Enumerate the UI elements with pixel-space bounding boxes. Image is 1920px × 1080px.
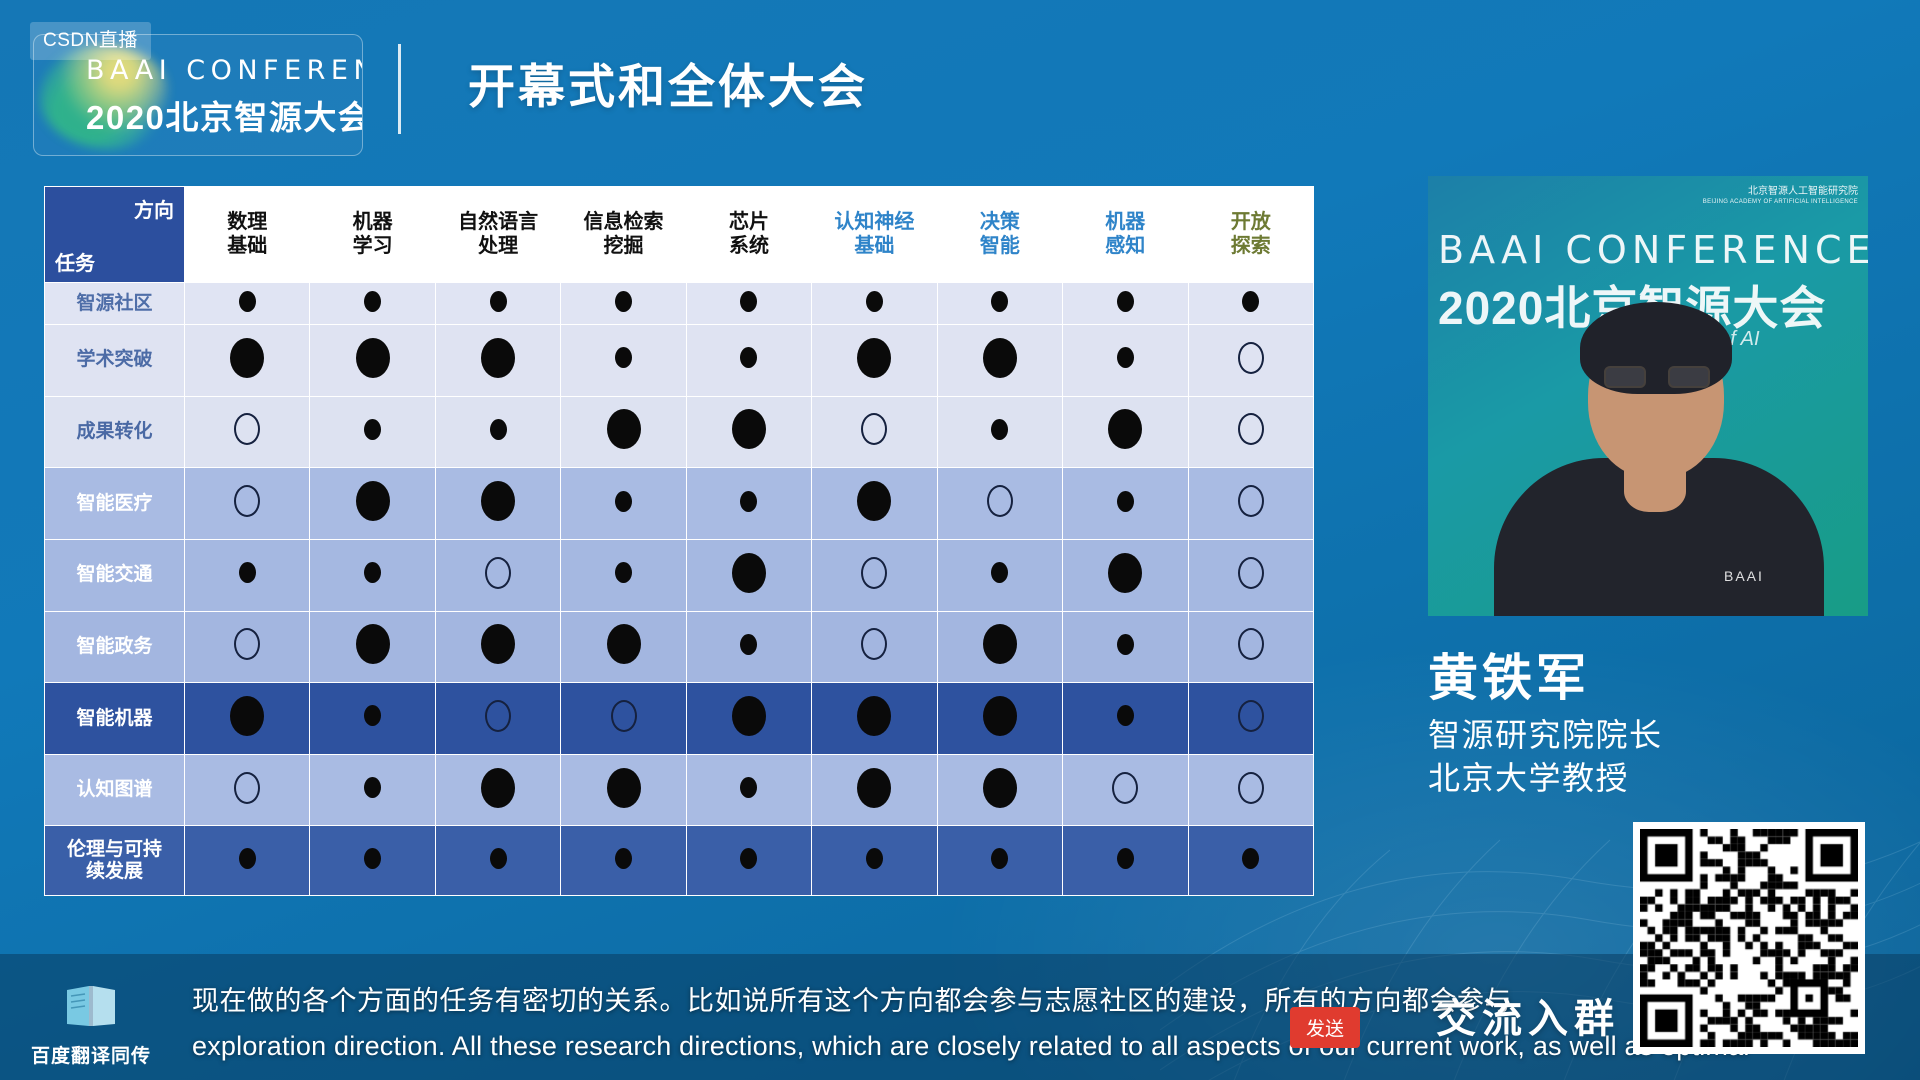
- row-header-line: 智能机器: [45, 708, 184, 730]
- matrix-cell-3-5: [812, 468, 937, 540]
- dot-small-icon: [364, 291, 381, 312]
- matrix-cell-0-5: [812, 283, 937, 325]
- dot-small-icon: [866, 291, 883, 312]
- dot-big-icon: [356, 624, 390, 664]
- matrix-body: 智源社区学术突破成果转化智能医疗智能交通智能政务智能机器认知图谱伦理与可持续发展: [45, 283, 1314, 896]
- dot-hollow-icon: [1112, 772, 1138, 804]
- speaker-title: 智源研究院院长 北京大学教授: [1428, 714, 1663, 800]
- speaker-title-line2: 北京大学教授: [1428, 757, 1663, 800]
- column-header-line: 探索: [1189, 235, 1314, 259]
- dot-hollow-icon: [1238, 413, 1264, 445]
- column-header-line: 挖掘: [561, 235, 685, 259]
- matrix-cell-6-2: [435, 683, 560, 755]
- matrix-cell-6-1: [310, 683, 435, 755]
- matrix-cell-6-6: [937, 683, 1062, 755]
- dot-hollow-icon: [234, 485, 260, 517]
- matrix-cell-8-5: [812, 826, 937, 896]
- dot-small-icon: [364, 562, 381, 583]
- dot-big-icon: [607, 768, 641, 808]
- matrix-cell-1-5: [812, 325, 937, 397]
- row-header-5: 智能政务: [45, 611, 185, 683]
- matrix-cell-7-7: [1063, 754, 1188, 826]
- matrix-cell-3-0: [185, 468, 310, 540]
- dot-small-icon: [1117, 291, 1134, 312]
- dot-big-icon: [857, 696, 891, 736]
- dot-small-icon: [615, 347, 632, 368]
- dot-small-icon: [1242, 291, 1259, 312]
- matrix-cell-5-3: [561, 611, 686, 683]
- matrix-cell-0-4: [686, 283, 811, 325]
- matrix-cell-6-4: [686, 683, 811, 755]
- speaker-collar: [1624, 460, 1686, 512]
- matrix-cell-3-2: [435, 468, 560, 540]
- dot-hollow-icon: [485, 700, 511, 732]
- dot-hollow-icon: [861, 628, 887, 660]
- speaker-name: 黄铁军: [1428, 638, 1590, 710]
- dot-small-icon: [490, 848, 507, 869]
- matrix-cell-5-7: [1063, 611, 1188, 683]
- row-header-line: 智能医疗: [45, 493, 184, 515]
- matrix-cell-5-4: [686, 611, 811, 683]
- column-header-line: 智能: [938, 235, 1062, 259]
- matrix-corner-cell: 方向 任务: [45, 187, 185, 283]
- column-header-2: 自然语言处理: [435, 187, 560, 283]
- page-title: 开幕式和全体大会: [468, 48, 868, 117]
- matrix-cell-6-5: [812, 683, 937, 755]
- video-institute-name-en: BEIJING ACADEMY OF ARTIFICIAL INTELLIGEN…: [1703, 199, 1858, 207]
- dot-hollow-icon: [234, 413, 260, 445]
- dot-big-icon: [857, 338, 891, 378]
- matrix-row: 智源社区: [45, 283, 1314, 325]
- matrix-cell-7-6: [937, 754, 1062, 826]
- row-header-6: 智能机器: [45, 683, 185, 755]
- matrix-row: 认知图谱: [45, 754, 1314, 826]
- matrix-cell-4-3: [561, 539, 686, 611]
- matrix-cell-1-2: [435, 325, 560, 397]
- row-header-8: 伦理与可持续发展: [45, 826, 185, 896]
- dot-big-icon: [356, 481, 390, 521]
- matrix-cell-4-7: [1063, 539, 1188, 611]
- qr-canvas: [1640, 829, 1858, 1047]
- dot-small-icon: [991, 419, 1008, 440]
- dot-small-icon: [740, 347, 757, 368]
- matrix-cell-1-7: [1063, 325, 1188, 397]
- row-header-line: 续发展: [45, 861, 184, 883]
- dot-big-icon: [732, 409, 766, 449]
- matrix-cell-2-6: [937, 396, 1062, 468]
- matrix-cell-4-8: [1188, 539, 1314, 611]
- row-header-line: 智能政务: [45, 636, 184, 658]
- book-icon: [63, 984, 119, 1030]
- dot-small-icon: [615, 291, 632, 312]
- dot-small-icon: [1117, 347, 1134, 368]
- dot-small-icon: [991, 848, 1008, 869]
- dot-small-icon: [1242, 848, 1259, 869]
- matrix-slide: 方向 任务 数理基础机器学习自然语言处理信息检索挖掘芯片系统认知神经基础决策智能…: [44, 186, 1314, 896]
- matrix-cell-3-7: [1063, 468, 1188, 540]
- dot-small-icon: [740, 634, 757, 655]
- matrix-cell-5-8: [1188, 611, 1314, 683]
- matrix-cell-2-7: [1063, 396, 1188, 468]
- matrix-cell-2-2: [435, 396, 560, 468]
- dot-big-icon: [1108, 553, 1142, 593]
- matrix-cell-1-3: [561, 325, 686, 397]
- column-header-line: 自然语言: [436, 211, 560, 235]
- row-header-line: 认知图谱: [45, 779, 184, 801]
- dot-big-icon: [481, 624, 515, 664]
- dot-big-icon: [481, 481, 515, 521]
- dot-small-icon: [1117, 848, 1134, 869]
- matrix-cell-0-0: [185, 283, 310, 325]
- column-header-line: 系统: [687, 235, 811, 259]
- dot-small-icon: [866, 848, 883, 869]
- dot-small-icon: [364, 848, 381, 869]
- dot-hollow-icon: [861, 557, 887, 589]
- matrix-cell-1-1: [310, 325, 435, 397]
- row-header-3: 智能医疗: [45, 468, 185, 540]
- dot-small-icon: [239, 562, 256, 583]
- column-header-line: 机器: [1063, 211, 1187, 235]
- qr-code[interactable]: [1633, 822, 1865, 1054]
- dot-small-icon: [239, 291, 256, 312]
- dot-small-icon: [1117, 634, 1134, 655]
- corner-direction-label: 方向: [134, 194, 174, 223]
- column-header-5: 认知神经基础: [812, 187, 937, 283]
- dot-hollow-icon: [1238, 700, 1264, 732]
- dot-small-icon: [740, 848, 757, 869]
- matrix-cell-3-6: [937, 468, 1062, 540]
- matrix-cell-3-8: [1188, 468, 1314, 540]
- dot-small-icon: [991, 291, 1008, 312]
- column-header-0: 数理基础: [185, 187, 310, 283]
- dot-big-icon: [230, 338, 264, 378]
- matrix-cell-4-4: [686, 539, 811, 611]
- matrix-cell-6-3: [561, 683, 686, 755]
- dot-big-icon: [983, 624, 1017, 664]
- column-header-line: 数理: [185, 211, 309, 235]
- matrix-cell-7-8: [1188, 754, 1314, 826]
- dot-hollow-icon: [611, 700, 637, 732]
- matrix-row: 成果转化: [45, 396, 1314, 468]
- column-header-line: 学习: [310, 235, 434, 259]
- dot-small-icon: [615, 491, 632, 512]
- matrix-cell-5-0: [185, 611, 310, 683]
- video-brand-label: BAAI: [1724, 568, 1764, 584]
- dot-hollow-icon: [1238, 557, 1264, 589]
- matrix-cell-0-1: [310, 283, 435, 325]
- row-header-line: 智能交通: [45, 564, 184, 586]
- column-header-3: 信息检索挖掘: [561, 187, 686, 283]
- corner-task-label: 任务: [55, 247, 95, 276]
- dot-hollow-icon: [1238, 628, 1264, 660]
- dot-big-icon: [481, 768, 515, 808]
- column-header-line: 信息检索: [561, 211, 685, 235]
- matrix-row: 智能交通: [45, 539, 1314, 611]
- matrix-cell-0-8: [1188, 283, 1314, 325]
- matrix-cell-8-4: [686, 826, 811, 896]
- dot-big-icon: [983, 696, 1017, 736]
- column-header-line: 基础: [812, 235, 936, 259]
- dot-big-icon: [1108, 409, 1142, 449]
- matrix-cell-6-8: [1188, 683, 1314, 755]
- matrix-cell-2-4: [686, 396, 811, 468]
- column-header-line: 机器: [310, 211, 434, 235]
- row-header-4: 智能交通: [45, 539, 185, 611]
- dot-small-icon: [364, 777, 381, 798]
- dot-small-icon: [364, 705, 381, 726]
- row-header-0: 智源社区: [45, 283, 185, 325]
- direction-task-matrix: 方向 任务 数理基础机器学习自然语言处理信息检索挖掘芯片系统认知神经基础决策智能…: [44, 186, 1314, 896]
- row-header-line: 智源社区: [45, 293, 184, 315]
- column-header-4: 芯片系统: [686, 187, 811, 283]
- column-header-7: 机器感知: [1063, 187, 1188, 283]
- matrix-cell-2-0: [185, 396, 310, 468]
- matrix-cell-7-1: [310, 754, 435, 826]
- dot-hollow-icon: [987, 485, 1013, 517]
- header: BAAI CONFERENCE 2020北京智源大会 开幕式和全体大会: [0, 0, 1920, 178]
- header-divider: [398, 44, 401, 134]
- dot-hollow-icon: [234, 628, 260, 660]
- matrix-cell-4-6: [937, 539, 1062, 611]
- matrix-cell-4-1: [310, 539, 435, 611]
- column-header-line: 决策: [938, 211, 1062, 235]
- matrix-cell-0-3: [561, 283, 686, 325]
- dot-small-icon: [740, 491, 757, 512]
- matrix-cell-4-2: [435, 539, 560, 611]
- matrix-cell-0-7: [1063, 283, 1188, 325]
- column-header-1: 机器学习: [310, 187, 435, 283]
- column-header-line: 开放: [1189, 211, 1314, 235]
- matrix-cell-7-0: [185, 754, 310, 826]
- subtitle-bar: 百度翻译同传 现在做的各个方面的任务有密切的关系。比如说所有这个方向都会参与志愿…: [0, 954, 1920, 1080]
- row-header-line: 成果转化: [45, 421, 184, 443]
- column-header-line: 芯片: [687, 211, 811, 235]
- matrix-cell-4-0: [185, 539, 310, 611]
- matrix-cell-7-5: [812, 754, 937, 826]
- column-header-line: 感知: [1063, 235, 1187, 259]
- column-header-line: 基础: [185, 235, 309, 259]
- dot-hollow-icon: [1238, 772, 1264, 804]
- matrix-cell-8-6: [937, 826, 1062, 896]
- matrix-cell-2-8: [1188, 396, 1314, 468]
- matrix-cell-2-5: [812, 396, 937, 468]
- matrix-cell-2-1: [310, 396, 435, 468]
- matrix-cell-5-6: [937, 611, 1062, 683]
- logo-text: BAAI CONFERENCE 2020北京智源大会: [86, 55, 363, 139]
- dot-big-icon: [857, 768, 891, 808]
- matrix-cell-1-8: [1188, 325, 1314, 397]
- logo-line-zh: 2020北京智源大会: [86, 91, 363, 139]
- dot-big-icon: [481, 338, 515, 378]
- matrix-cell-1-4: [686, 325, 811, 397]
- dot-hollow-icon: [1238, 342, 1264, 374]
- row-header-line: 学术突破: [45, 349, 184, 371]
- dot-hollow-icon: [485, 557, 511, 589]
- dot-big-icon: [356, 338, 390, 378]
- matrix-cell-6-7: [1063, 683, 1188, 755]
- dot-small-icon: [364, 419, 381, 440]
- speaker-video[interactable]: 北京智源人工智能研究院 BEIJING ACADEMY OF ARTIFICIA…: [1428, 176, 1868, 616]
- matrix-row: 伦理与可持续发展: [45, 826, 1314, 896]
- qr-caption: 交流入群: [1436, 986, 1620, 1044]
- dot-small-icon: [490, 291, 507, 312]
- dot-hollow-icon: [234, 772, 260, 804]
- matrix-cell-0-2: [435, 283, 560, 325]
- column-header-6: 决策智能: [937, 187, 1062, 283]
- row-header-1: 学术突破: [45, 325, 185, 397]
- dot-small-icon: [740, 291, 757, 312]
- matrix-cell-5-5: [812, 611, 937, 683]
- live-badge: CSDN直播: [30, 22, 151, 60]
- matrix-cell-7-3: [561, 754, 686, 826]
- matrix-header-row: 方向 任务 数理基础机器学习自然语言处理信息检索挖掘芯片系统认知神经基础决策智能…: [45, 187, 1314, 283]
- matrix-cell-8-3: [561, 826, 686, 896]
- matrix-cell-5-1: [310, 611, 435, 683]
- column-header-line: 认知神经: [812, 211, 936, 235]
- matrix-cell-8-8: [1188, 826, 1314, 896]
- dot-small-icon: [490, 419, 507, 440]
- row-header-7: 认知图谱: [45, 754, 185, 826]
- matrix-cell-7-2: [435, 754, 560, 826]
- dot-small-icon: [1117, 491, 1134, 512]
- glasses-icon: [1604, 366, 1710, 388]
- video-institute-name-zh: 北京智源人工智能研究院: [1703, 186, 1858, 199]
- matrix-cell-1-0: [185, 325, 310, 397]
- dot-big-icon: [230, 696, 264, 736]
- dot-small-icon: [991, 562, 1008, 583]
- matrix-cell-3-1: [310, 468, 435, 540]
- video-title-en: BAAI CONFERENCE: [1438, 228, 1868, 272]
- dot-small-icon: [615, 848, 632, 869]
- matrix-cell-6-0: [185, 683, 310, 755]
- matrix-cell-5-2: [435, 611, 560, 683]
- matrix-row: 智能医疗: [45, 468, 1314, 540]
- dot-hollow-icon: [861, 413, 887, 445]
- matrix-cell-0-6: [937, 283, 1062, 325]
- send-button[interactable]: 发送: [1290, 1007, 1360, 1048]
- column-header-line: 处理: [436, 235, 560, 259]
- dot-hollow-icon: [1238, 485, 1264, 517]
- matrix-cell-8-2: [435, 826, 560, 896]
- translator-badge: 百度翻译同传: [26, 984, 156, 1068]
- dot-big-icon: [983, 338, 1017, 378]
- matrix-cell-3-4: [686, 468, 811, 540]
- row-header-2: 成果转化: [45, 396, 185, 468]
- dot-small-icon: [740, 777, 757, 798]
- dot-small-icon: [615, 562, 632, 583]
- dot-big-icon: [607, 624, 641, 664]
- matrix-row: 智能政务: [45, 611, 1314, 683]
- translator-label: 百度翻译同传: [26, 1041, 156, 1068]
- column-header-8: 开放探索: [1188, 187, 1314, 283]
- matrix-cell-1-6: [937, 325, 1062, 397]
- video-institute-logo: 北京智源人工智能研究院 BEIJING ACADEMY OF ARTIFICIA…: [1703, 186, 1858, 206]
- dot-big-icon: [607, 409, 641, 449]
- dot-big-icon: [732, 553, 766, 593]
- matrix-row: 学术突破: [45, 325, 1314, 397]
- matrix-cell-4-5: [812, 539, 937, 611]
- matrix-cell-2-3: [561, 396, 686, 468]
- row-header-line: 伦理与可持: [45, 839, 184, 861]
- dot-big-icon: [983, 768, 1017, 808]
- matrix-cell-8-7: [1063, 826, 1188, 896]
- dot-small-icon: [1117, 705, 1134, 726]
- matrix-cell-7-4: [686, 754, 811, 826]
- speaker-title-line1: 智源研究院院长: [1428, 714, 1663, 757]
- matrix-cell-8-0: [185, 826, 310, 896]
- matrix-row: 智能机器: [45, 683, 1314, 755]
- matrix-cell-8-1: [310, 826, 435, 896]
- dot-small-icon: [239, 848, 256, 869]
- matrix-cell-3-3: [561, 468, 686, 540]
- dot-big-icon: [857, 481, 891, 521]
- dot-big-icon: [732, 696, 766, 736]
